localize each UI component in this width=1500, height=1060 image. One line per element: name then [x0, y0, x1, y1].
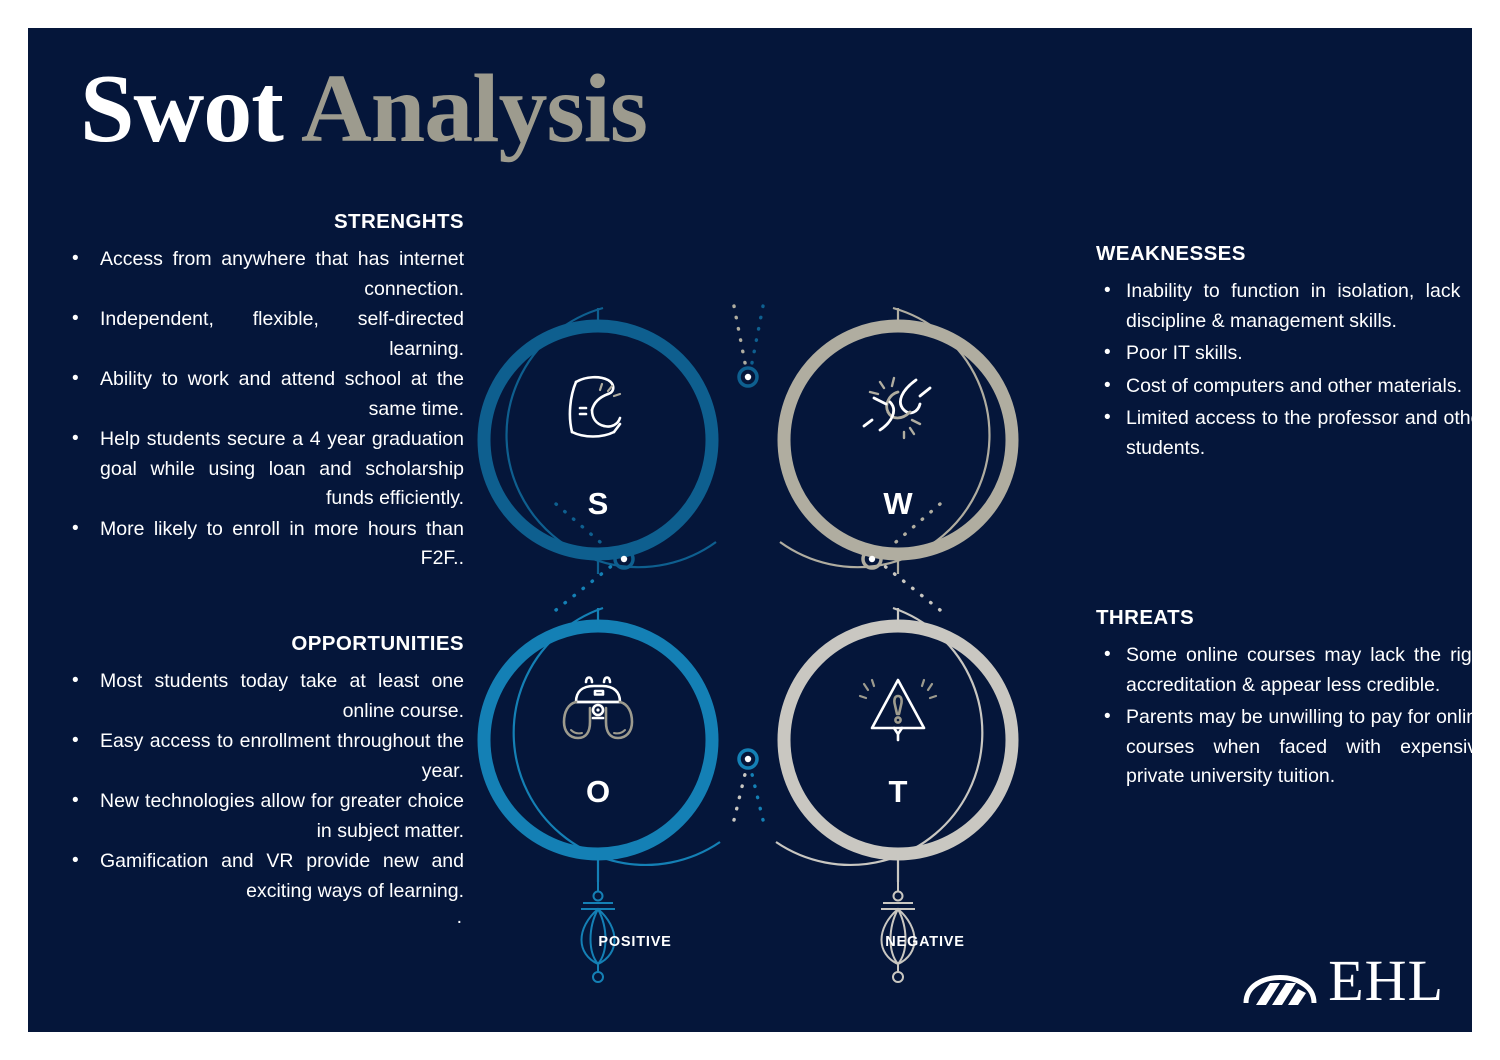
quadrant-letter-s: S [568, 486, 628, 522]
binoculars-icon [564, 678, 632, 739]
axis-label-positive: POSITIVE [535, 934, 735, 950]
lantern-ornament-positive [581, 882, 615, 982]
axis-label-negative: NEGATIVE [825, 934, 1025, 950]
quadrant-letter-o: O [568, 774, 628, 810]
panel-strengths: STRENGHTS Access from anywhere that has … [64, 210, 464, 575]
list-item: New technologies allow for greater choic… [64, 787, 464, 846]
title-word-analysis: Analysis [301, 55, 647, 163]
weaknesses-list: Inability to function in isolation, lack… [1096, 277, 1472, 463]
list-item: Access from anywhere that has internet c… [64, 245, 464, 304]
list-item: Parents may be unwilling to pay for onli… [1096, 703, 1472, 792]
page-title: Swot Analysis [80, 56, 647, 164]
ehl-arc-mark [1242, 953, 1318, 1009]
list-item: Poor IT skills. [1096, 339, 1472, 369]
opportunities-trailing-mark: . [64, 907, 464, 927]
warning-triangle-icon [860, 680, 936, 740]
broken-chain-icon [864, 378, 930, 438]
list-item: Help students secure a 4 year graduation… [64, 425, 464, 514]
connector-node-bottom [734, 750, 763, 820]
quadrant-letter-t: T [868, 774, 928, 810]
panel-weaknesses-heading: WEAKNESSES [1096, 242, 1472, 266]
flexed-bicep-icon [570, 377, 620, 436]
poster-canvas: Swot Analysis STRENGHTS Access from anyw… [28, 28, 1472, 1032]
title-word-swot: Swot [80, 55, 283, 163]
list-item: Gamification and VR provide new and exci… [64, 847, 464, 906]
ehl-logo-text: EHL [1328, 952, 1444, 1010]
connector-node-top [734, 306, 763, 386]
panel-opportunities: OPPORTUNITIES Most students today take a… [64, 632, 464, 927]
ehl-logo: EHL [1242, 952, 1444, 1010]
list-item: Independent, flexible, self-directed lea… [64, 305, 464, 364]
list-item: Some online courses may lack the right a… [1096, 641, 1472, 700]
panel-opportunities-heading: OPPORTUNITIES [64, 632, 464, 656]
opportunities-list: Most students today take at least one on… [64, 667, 464, 906]
panel-strengths-heading: STRENGHTS [64, 210, 464, 234]
list-item: Most students today take at least one on… [64, 667, 464, 726]
list-item: Easy access to enrollment throughout the… [64, 727, 464, 786]
list-item: Ability to work and attend school at the… [64, 365, 464, 424]
list-item: More likely to enroll in more hours than… [64, 515, 464, 574]
lantern-ornament-negative [881, 882, 915, 982]
quadrant-letter-w: W [868, 486, 928, 522]
list-item: Cost of computers and other materials. [1096, 372, 1472, 402]
list-item: Limited access to the professor and othe… [1096, 404, 1472, 463]
threats-list: Some online courses may lack the right a… [1096, 641, 1472, 792]
panel-threats: THREATS Some online courses may lack the… [1096, 606, 1472, 795]
strengths-list: Access from anywhere that has internet c… [64, 245, 464, 574]
swot-diagram: S W O T POSITIVE NEGATIVE [448, 246, 1048, 986]
panel-weaknesses: WEAKNESSES Inability to function in isol… [1096, 242, 1472, 466]
list-item: Inability to function in isolation, lack… [1096, 277, 1472, 336]
panel-threats-heading: THREATS [1096, 606, 1472, 630]
ring-opportunities [484, 626, 712, 854]
